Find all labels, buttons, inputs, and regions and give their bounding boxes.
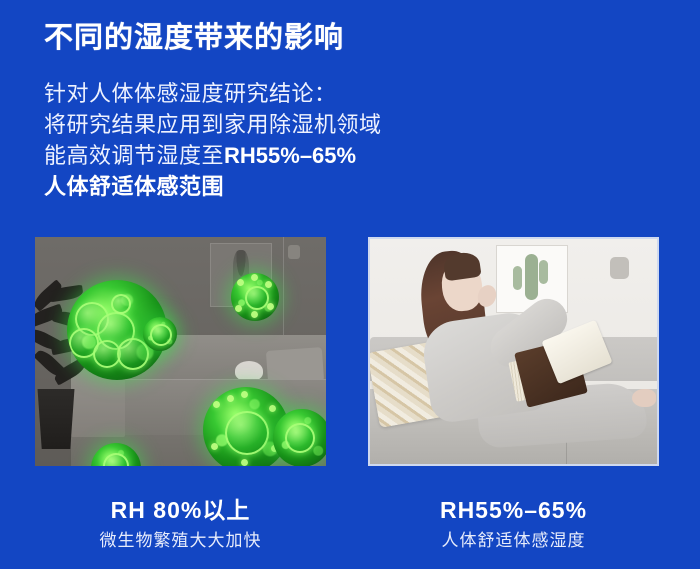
photo-comfort-humidity — [368, 237, 659, 466]
dark-living-room-scene — [35, 237, 326, 466]
intro-copy-block: 针对人体体感湿度研究结论： 将研究结果应用到家用除湿机领域 能高效调节湿度至RH… — [44, 78, 524, 202]
cactus-illustration — [525, 254, 538, 300]
photo-high-humidity — [35, 237, 326, 466]
microbe-sphere-bottom-left — [91, 443, 141, 466]
wall-knob — [610, 257, 629, 279]
intro-line-1: 针对人体体感湿度研究结论： — [44, 78, 524, 109]
caption-comfort-humidity-subtitle: 人体舒适体感湿度 — [368, 528, 659, 554]
intro-line-3-prefix: 能高效调节湿度至 — [44, 143, 224, 168]
page-title: 不同的湿度带来的影响 — [44, 19, 344, 57]
wall-knob — [288, 245, 300, 259]
wall-seam — [283, 237, 284, 349]
humidity-range-highlight: RH55%–65% — [224, 143, 356, 168]
caption-high-humidity-title: RH 80%以上 — [35, 496, 326, 524]
caption-comfort-humidity: RH55%–65% 人体舒适体感湿度 — [368, 496, 659, 554]
humidity-infographic-poster: 不同的湿度带来的影响 针对人体体感湿度研究结论： 将研究结果应用到家用除湿机领域… — [0, 0, 700, 569]
intro-line-4: 人体舒适体感范围 — [44, 171, 524, 202]
bright-living-room-scene — [370, 239, 657, 464]
microbe-sphere-mid — [143, 317, 177, 351]
microbe-sphere-small — [231, 273, 279, 321]
intro-line-2: 将研究结果应用到家用除湿机领域 — [44, 109, 524, 140]
microbe-sphere-edge-right — [273, 409, 326, 466]
caption-high-humidity-subtitle: 微生物繁殖大大加快 — [35, 528, 326, 554]
intro-line-3: 能高效调节湿度至RH55%–65% — [44, 140, 524, 171]
caption-high-humidity: RH 80%以上 微生物繁殖大大加快 — [35, 496, 326, 554]
sofa-pillow — [235, 361, 263, 381]
caption-comfort-humidity-title: RH55%–65% — [368, 496, 659, 524]
woman-foot — [632, 389, 656, 407]
